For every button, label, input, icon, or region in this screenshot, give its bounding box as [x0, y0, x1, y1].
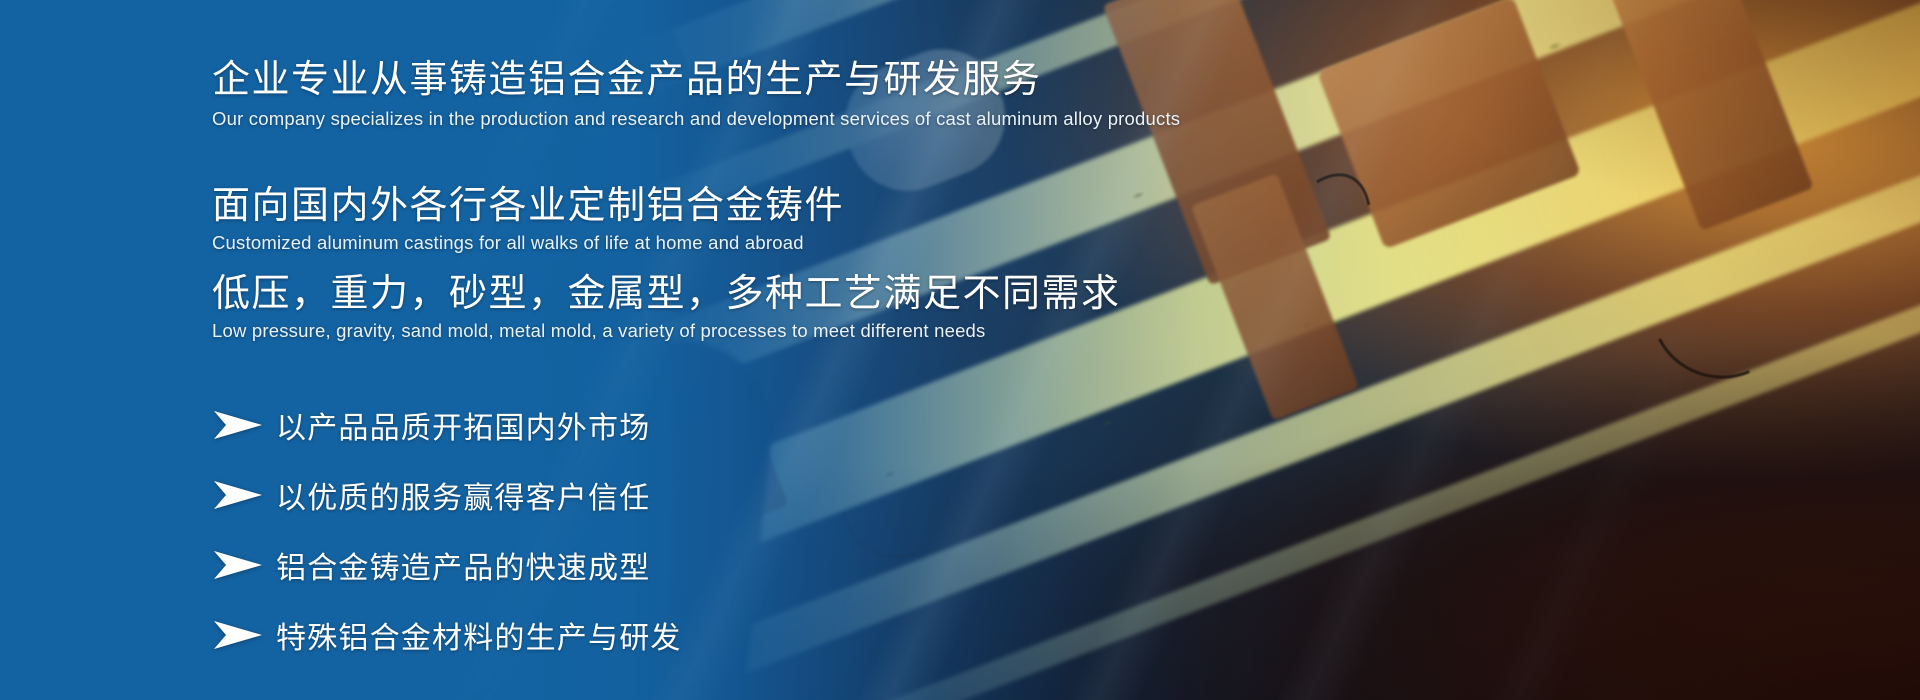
headline-3-cn: 低压，重力，砂型，金属型，多种工艺满足不同需求	[212, 262, 1121, 317]
feature-list-item[interactable]: 铝合金铸造产品的快速成型	[212, 530, 682, 600]
feature-list-item[interactable]: 特殊铝合金材料的生产与研发	[212, 600, 682, 670]
headline-1-en: Our company specializes in the productio…	[212, 108, 1180, 130]
headline-2-en: Customized aluminum castings for all wal…	[212, 232, 804, 254]
headline-3-en: Low pressure, gravity, sand mold, metal …	[212, 320, 986, 342]
banner-content: 企业专业从事铸造铝合金产品的生产与研发服务 Our company specia…	[0, 0, 1920, 700]
headline-2-cn: 面向国内外各行各业定制铝合金铸件	[212, 174, 844, 229]
feature-list-item-label: 铝合金铸造产品的快速成型	[276, 543, 650, 587]
feature-list: 以产品品质开拓国内外市场 以优质的服务赢得客户信任 铝合金铸造产品的快速成型 特…	[212, 390, 682, 670]
feature-list-item[interactable]: 以优质的服务赢得客户信任	[212, 460, 682, 530]
arrow-right-icon	[212, 550, 264, 580]
hero-banner: 企业专业从事铸造铝合金产品的生产与研发服务 Our company specia…	[0, 0, 1920, 700]
arrow-right-icon	[212, 620, 264, 650]
arrow-right-icon	[212, 410, 264, 440]
feature-list-item-label: 特殊铝合金材料的生产与研发	[276, 613, 682, 657]
feature-list-item-label: 以优质的服务赢得客户信任	[276, 473, 650, 517]
feature-list-item[interactable]: 以产品品质开拓国内外市场	[212, 390, 682, 460]
arrow-right-icon	[212, 480, 264, 510]
feature-list-item-label: 以产品品质开拓国内外市场	[276, 403, 650, 447]
headline-1-cn: 企业专业从事铸造铝合金产品的生产与研发服务	[212, 48, 1042, 103]
